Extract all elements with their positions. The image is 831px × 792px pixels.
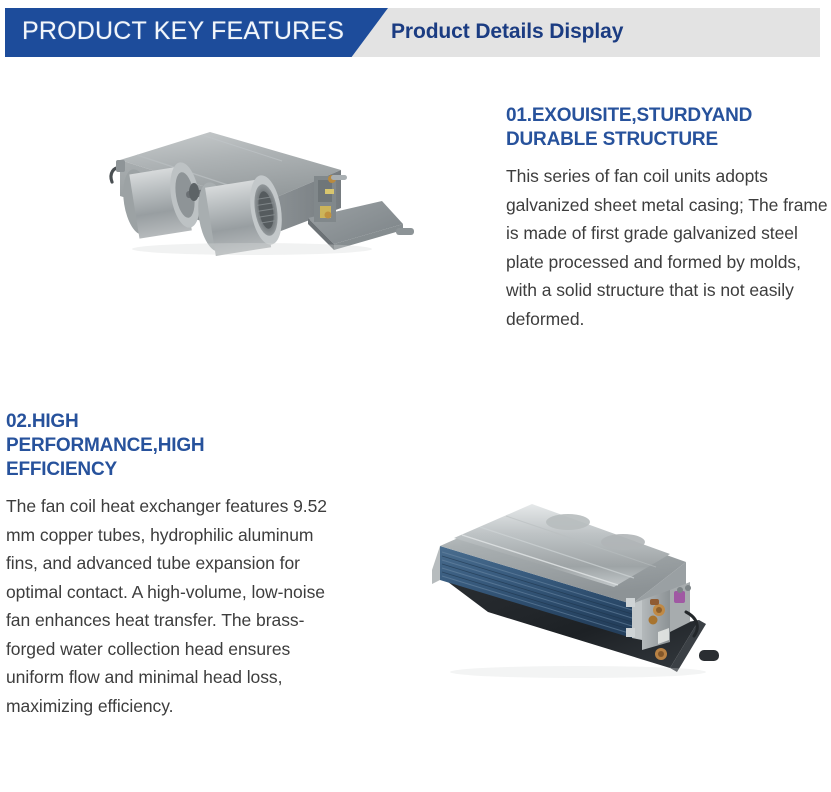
page-header-banner: PRODUCT KEY FEATURES Product Details Dis… — [0, 8, 831, 57]
page-title: PRODUCT KEY FEATURES — [22, 17, 344, 46]
feature-02-text-column: 02.HIGH PERFORMANCE,HIGH EFFICIENCY The … — [6, 410, 331, 720]
feature-02-body: The fan coil heat exchanger features 9.5… — [6, 492, 331, 720]
fan-coil-unit-image — [82, 116, 422, 296]
banner-subtitle: Product Details Display — [391, 20, 623, 44]
feature-01-body: This series of fan coil units adopts gal… — [506, 162, 831, 333]
feature-02-heading: 02.HIGH PERFORMANCE,HIGH EFFICIENCY — [6, 410, 251, 482]
heat-exchanger-image — [418, 472, 748, 687]
feature-section-01: 01.EXOUISITE,STURDYAND DURABLE STRUCTURE… — [0, 90, 831, 390]
feature-section-02: 02.HIGH PERFORMANCE,HIGH EFFICIENCY The … — [0, 400, 831, 792]
feature-01-heading: 01.EXOUISITE,STURDYAND DURABLE STRUCTURE — [506, 104, 831, 152]
feature-01-text-column: 01.EXOUISITE,STURDYAND DURABLE STRUCTURE… — [506, 104, 831, 333]
